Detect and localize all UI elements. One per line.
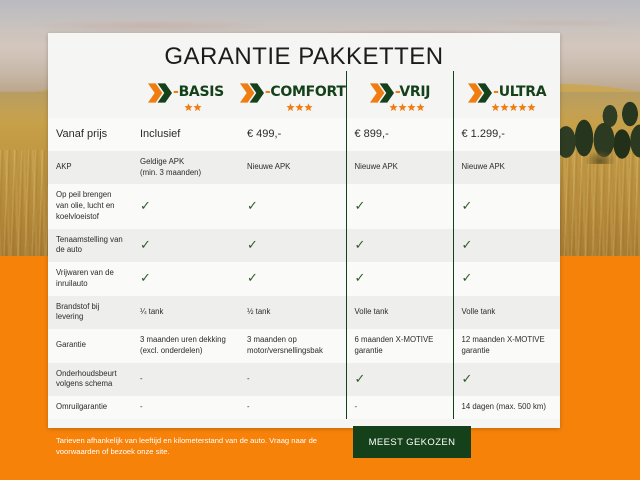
table-cell: € 1.299,- [453,118,560,151]
star-icon [491,103,500,112]
warranty-packages-card: GARANTIE PAKKETTEN -BASIS-COMFORT-VRIJ-U… [48,33,560,428]
logo-wordmark: -COMFORT [239,81,346,105]
row-label: Omruilgarantie [48,396,132,419]
packages-comparison-table: -BASIS-COMFORT-VRIJ-ULTRAVanaf prijsIncl… [48,71,560,419]
package-header-basis[interactable]: -BASIS [132,71,239,118]
table-row: Omruilgarantie---14 dagen (max. 500 km) [48,396,560,419]
table-cell: Nieuwe APK [453,151,560,185]
footer-disclaimer: Tarieven afhankelijk van leeftijd en kil… [56,435,356,457]
page-title: GARANTIE PAKKETTEN [48,33,560,71]
logo-wordmark: -BASIS [147,81,224,105]
table-cell: Volle tank [453,296,560,330]
table-cell: ✓ [453,229,560,263]
row-label: Vrijwaren van de inruilauto [48,262,132,296]
table-cell: 12 maanden X-MOTIVEgarantie [453,329,560,363]
table-cell: ✓ [346,229,453,263]
check-icon: ✓ [355,372,366,385]
x-motive-chevron-icon [369,81,394,105]
package-logo: -VRIJ [355,77,445,112]
check-icon: ✓ [462,238,473,251]
star-icon [389,103,398,112]
logo-wordmark: -VRIJ [369,81,430,105]
x-motive-chevron-icon [147,81,172,105]
table-row: Vrijwaren van de inruilauto✓✓✓✓ [48,262,560,296]
table-cell: ✓ [132,184,239,228]
star-icon [286,103,295,112]
table-row: Op peil brengen van olie, lucht en koelv… [48,184,560,228]
logo-wordmark: -ULTRA [467,81,546,105]
check-icon: ✓ [355,199,366,212]
star-icon [509,103,518,112]
row-label: Tenaamstelling van de auto [48,229,132,263]
table-cell: 3 maanden uren dekking(excl. onderdelen) [132,329,239,363]
package-logo: -ULTRA [462,77,553,112]
table-cell: ✓ [453,363,560,397]
star-icon [304,103,313,112]
check-icon: ✓ [462,199,473,212]
table-row: Tenaamstelling van de auto✓✓✓✓ [48,229,560,263]
table-cell: ✓ [346,262,453,296]
package-name-label: -BASIS [173,83,224,102]
check-icon: ✓ [247,271,258,284]
table-cell: ✓ [453,262,560,296]
star-icon [407,103,416,112]
table-cell: 6 maanden X-MOTIVEgarantie [346,329,453,363]
package-logo: -BASIS [140,77,231,112]
package-rating-stars [389,103,425,112]
table-cell: € 499,- [239,118,346,151]
row-label: Brandstof bij levering [48,296,132,330]
table-cell: 14 dagen (max. 500 km) [453,396,560,419]
package-rating-stars [491,103,536,112]
package-rating-stars [184,103,202,112]
card-footer: Tarieven afhankelijk van leeftijd en kil… [48,430,560,470]
table-row: AKPGeldige APK(min. 3 maanden)Nieuwe APK… [48,151,560,185]
star-icon [184,103,193,112]
table-cell: ✓ [346,363,453,397]
table-cell: - [239,396,346,419]
check-icon: ✓ [247,238,258,251]
table-cell: ✓ [132,262,239,296]
meest-gekozen-button[interactable]: MEEST GEKOZEN [353,426,471,458]
star-icon [295,103,304,112]
row-label: AKP [48,151,132,185]
package-logos-row: -BASIS-COMFORT-VRIJ-ULTRA [48,71,560,118]
table-cell: ¼ tank [132,296,239,330]
table-cell: Nieuwe APK [239,151,346,185]
table-row: Brandstof bij levering¼ tank½ tankVolle … [48,296,560,330]
star-icon [398,103,407,112]
star-icon [527,103,536,112]
row-label: Op peil brengen van olie, lucht en koelv… [48,184,132,228]
table-cell: € 899,- [346,118,453,151]
table-cell: - [132,363,239,397]
check-icon: ✓ [462,271,473,284]
shrub-right [585,150,615,164]
package-name-label: -COMFORT [265,83,346,102]
table-cell: Geldige APK(min. 3 maanden) [132,151,239,185]
logo-row-spacer [48,71,132,118]
star-icon [193,103,202,112]
row-label: Onderhoudsbeurt volgens schema [48,363,132,397]
package-header-ultra[interactable]: -ULTRA [453,71,560,118]
check-icon: ✓ [140,271,151,284]
table-cell: ✓ [346,184,453,228]
package-header-vrij[interactable]: -VRIJ [346,71,453,118]
check-icon: ✓ [140,238,151,251]
table-cell: ½ tank [239,296,346,330]
table-cell: - [346,396,453,419]
table-cell: ✓ [239,229,346,263]
table-cell: Nieuwe APK [346,151,453,185]
check-icon: ✓ [247,199,258,212]
package-name-label: -VRIJ [395,83,430,102]
check-icon: ✓ [462,372,473,385]
row-label: Garantie [48,329,132,363]
package-rating-stars [286,103,313,112]
package-logo: -COMFORT [247,77,338,112]
package-header-comfort[interactable]: -COMFORT [239,71,346,118]
table-cell: ✓ [239,184,346,228]
x-motive-chevron-icon [467,81,492,105]
table-cell: Volle tank [346,296,453,330]
star-icon [500,103,509,112]
table-cell: ✓ [132,229,239,263]
table-cell: 3 maanden opmotor/versnellingsbak [239,329,346,363]
check-icon: ✓ [355,238,366,251]
table-cell: - [239,363,346,397]
table-cell: ✓ [239,262,346,296]
table-row: Onderhoudsbeurt volgens schema--✓✓ [48,363,560,397]
package-name-label: -ULTRA [493,83,546,102]
x-motive-chevron-icon [239,81,264,105]
star-icon [416,103,425,112]
table-cell: Inclusief [132,118,239,151]
table-cell: ✓ [453,184,560,228]
table-row: Vanaf prijsInclusief€ 499,-€ 899,-€ 1.29… [48,118,560,151]
check-icon: ✓ [140,199,151,212]
table-row: Garantie3 maanden uren dekking(excl. ond… [48,329,560,363]
star-icon [518,103,527,112]
table-cell: - [132,396,239,419]
check-icon: ✓ [355,271,366,284]
row-label: Vanaf prijs [48,118,132,151]
